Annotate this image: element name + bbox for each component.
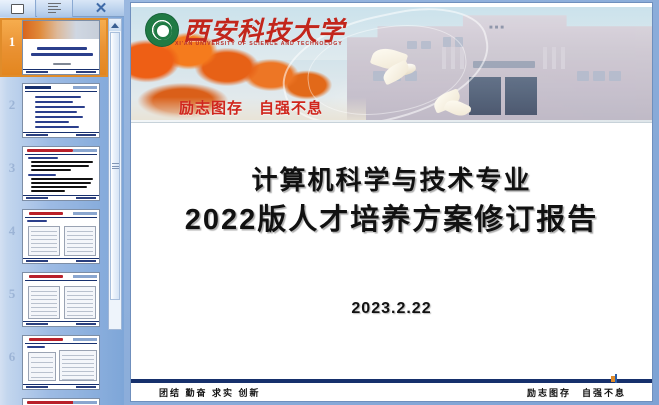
thumbnail-number: 3 [4,160,20,176]
thumbnail-preview [22,20,100,75]
chevron-up-icon [111,23,119,28]
slide-canvas-area: ■■■ [124,0,659,405]
banner-motto: 励志图存 自强不息 [179,97,323,118]
thumbnail-number: 6 [4,349,20,365]
thumbnail-preview [22,398,100,405]
slides-icon [11,4,24,14]
thumbnail-slide-6[interactable]: 6 [0,333,108,392]
tab-outline[interactable] [37,0,73,17]
tab-slides[interactable] [0,0,36,17]
thumbnail-number: 1 [4,34,20,50]
slides-panel: ✕ 1 2 [0,0,124,405]
thumbnail-slide-4[interactable]: 4 [0,207,108,266]
university-name-en: XI'AN UNIVERSITY OF SCIENCE AND TECHNOLO… [175,41,343,47]
grip-icon [112,162,119,171]
banner-image: ■■■ [131,7,652,123]
scroll-up-button[interactable] [109,19,121,31]
thumbnail-slide-5[interactable]: 5 [0,270,108,329]
powerpoint-window: ✕ 1 2 [0,0,659,405]
thumbnail-preview [22,272,100,327]
thumbnail-preview [22,83,100,138]
current-slide[interactable]: ■■■ [130,2,653,402]
thumbnail-number: 4 [4,223,20,239]
dove-icon-2 [431,91,479,121]
thumbnail-preview [22,209,100,264]
title-line-1: 计算机科学与技术专业 [131,161,652,199]
thumbnail-slide-1[interactable]: 1 [0,18,108,77]
title-line-2: 2022版人才培养方案修订报告 [131,199,652,241]
close-panel-button[interactable]: ✕ [90,0,112,17]
footer-right-text: 励志图存 自强不息 [527,386,626,399]
footer-divider [131,379,652,383]
footer-left-text: 团结 勤奋 求实 创新 [159,386,261,399]
panel-tabstrip: ✕ [0,0,124,17]
text-cursor [611,374,618,383]
slide-title[interactable]: 计算机科学与技术专业 2022版人才培养方案修订报告 [131,161,652,241]
thumbnail-number: 5 [4,286,20,302]
thumbnail-preview [22,146,100,201]
scrollbar-thumb[interactable] [110,32,120,300]
thumbnail-preview [22,335,100,390]
thumbnail-slide-2[interactable]: 2 [0,81,108,140]
thumbnail-slide-3[interactable]: 3 [0,144,108,203]
building-sign: ■■■ [489,25,506,31]
outline-icon [48,3,61,14]
panel-scrollbar[interactable] [108,18,122,330]
slide-date[interactable]: 2023.2.22 [131,300,652,318]
dove-icon [366,49,422,85]
thumbnail-number: 2 [4,97,20,113]
thumbnail-slide-7[interactable]: 7 [0,396,108,405]
thumbnail-list[interactable]: 1 2 [0,18,108,405]
university-seal-logo [145,13,179,47]
banner-underline [131,120,652,123]
